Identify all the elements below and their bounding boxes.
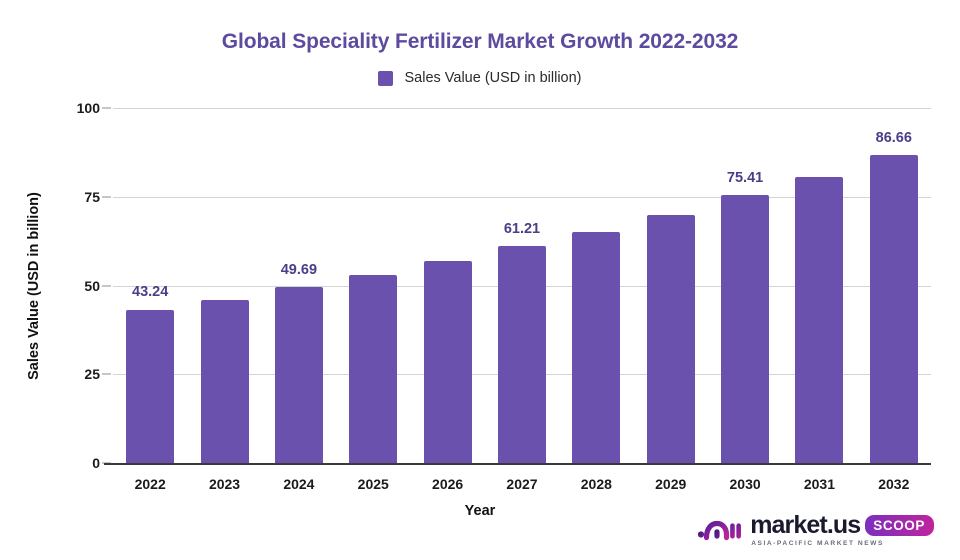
bar-value-label: 61.21 <box>504 221 540 237</box>
y-axis-tick-mark <box>102 285 111 286</box>
chart-legend: Sales Value (USD in billion) <box>0 70 960 86</box>
bar-group: 49.692024 <box>262 108 336 463</box>
bar[interactable] <box>572 232 620 463</box>
page-title: Global Speciality Fertilizer Market Grow… <box>0 30 960 54</box>
logo-tagline: ASIA-PACIFIC MARKET NEWS <box>751 540 884 547</box>
market-us-logo-icon <box>697 516 741 544</box>
y-axis-tick-mark <box>102 108 111 109</box>
bar[interactable] <box>498 246 546 463</box>
bar-group: 43.242022 <box>113 108 187 463</box>
bar[interactable] <box>870 155 918 463</box>
y-axis-title: Sales Value (USD in billion) <box>26 192 42 380</box>
bar-value-label: 49.69 <box>281 262 317 278</box>
y-axis-tick-label: 25 <box>84 366 100 382</box>
x-axis-tick-label: 2023 <box>209 476 240 492</box>
bar[interactable] <box>721 195 769 463</box>
chart-canvas: Global Speciality Fertilizer Market Grow… <box>0 0 960 560</box>
bar-group: 2029 <box>634 108 708 463</box>
bar[interactable] <box>275 287 323 463</box>
y-axis-tick-label: 50 <box>84 278 100 294</box>
x-axis-tick-label: 2025 <box>358 476 389 492</box>
x-axis-tick-label: 2028 <box>581 476 612 492</box>
legend-label-sales-value: Sales Value (USD in billion) <box>404 70 581 86</box>
bar-group: 2028 <box>559 108 633 463</box>
y-axis-tick-label: 100 <box>77 100 100 116</box>
logo-wordmark: market.us <box>750 513 860 538</box>
bar-group: 86.662032 <box>857 108 931 463</box>
legend-swatch-sales-value <box>378 71 393 86</box>
bar[interactable] <box>201 300 249 463</box>
brand-logo[interactable]: market.us SCOOP ASIA-PACIFIC MARKET NEWS <box>697 513 934 547</box>
y-axis-tick-label: 75 <box>84 189 100 205</box>
x-axis-tick-label: 2030 <box>730 476 761 492</box>
bar-group: 75.412030 <box>708 108 782 463</box>
x-axis-tick-label: 2022 <box>135 476 166 492</box>
bar-group: 2026 <box>410 108 484 463</box>
y-axis-tick-mark <box>102 196 111 197</box>
x-axis-line <box>104 463 931 465</box>
bar[interactable] <box>647 215 695 464</box>
x-axis-tick-label: 2031 <box>804 476 835 492</box>
bar-value-label: 43.24 <box>132 284 168 300</box>
x-axis-tick-label: 2029 <box>655 476 686 492</box>
x-axis-tick-label: 2024 <box>283 476 314 492</box>
bar[interactable] <box>349 275 397 463</box>
bar-series-sales-value: 43.242022202349.6920242025202661.2120272… <box>113 108 931 463</box>
bar[interactable] <box>424 261 472 463</box>
bar-group: 2025 <box>336 108 410 463</box>
bar-group: 2023 <box>187 108 261 463</box>
x-axis-tick-label: 2027 <box>506 476 537 492</box>
x-axis-tick-label: 2026 <box>432 476 463 492</box>
bar[interactable] <box>126 310 174 464</box>
y-axis-tick-label: 0 <box>92 455 100 471</box>
bar-group: 61.212027 <box>485 108 559 463</box>
y-axis-tick-mark <box>102 374 111 375</box>
plot-area: 0255075100 43.242022202349.6920242025202… <box>113 108 931 463</box>
x-axis-tick-label: 2032 <box>878 476 909 492</box>
bar-value-label: 75.41 <box>727 170 763 186</box>
logo-scoop-badge: SCOOP <box>865 515 934 537</box>
bar[interactable] <box>795 177 843 463</box>
bar-group: 2031 <box>782 108 856 463</box>
bar-value-label: 86.66 <box>876 130 912 146</box>
